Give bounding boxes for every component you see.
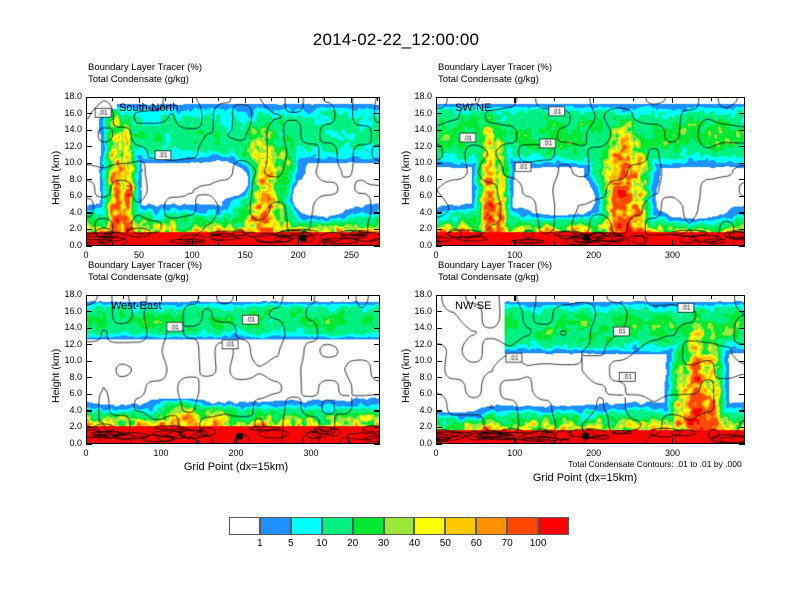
y-tickmark-right bbox=[374, 410, 380, 411]
y-tickmark bbox=[86, 113, 92, 114]
y-tickmark-right bbox=[374, 427, 380, 428]
y-tick-label: 18.0 bbox=[400, 91, 432, 101]
x-minor-tick-top bbox=[86, 97, 87, 101]
y-tickmark bbox=[86, 196, 92, 197]
y-tickmark bbox=[436, 146, 442, 147]
y-tickmark bbox=[86, 394, 92, 395]
x-minor-tick-top bbox=[351, 97, 352, 101]
y-tickmark-right bbox=[374, 113, 380, 114]
x-tick-label: 100 bbox=[141, 448, 181, 458]
y-tickmark bbox=[436, 311, 442, 312]
x-minor-tick-top bbox=[245, 97, 246, 101]
y-tickmark bbox=[436, 394, 442, 395]
y-tickmark bbox=[86, 163, 92, 164]
x-minor-tick-top bbox=[311, 295, 312, 299]
x-minor-tick bbox=[198, 440, 199, 444]
x-minor-tick bbox=[436, 440, 437, 444]
y-tick-label: 4.0 bbox=[400, 405, 432, 415]
x-minor-tick-top bbox=[165, 97, 166, 101]
x-tick-label: 0 bbox=[66, 250, 106, 260]
y-tickmark-right bbox=[374, 212, 380, 213]
x-minor-tick bbox=[351, 242, 352, 246]
y-tick-label: 16.0 bbox=[400, 108, 432, 118]
y-tickmark-right bbox=[374, 377, 380, 378]
y-tick-label: 16.0 bbox=[50, 306, 82, 316]
y-tickmark bbox=[436, 196, 442, 197]
x-minor-tick-top bbox=[475, 295, 476, 299]
y-tickmark bbox=[86, 344, 92, 345]
y-tickmark bbox=[436, 97, 442, 98]
x-minor-tick bbox=[554, 242, 555, 246]
y-tickmark bbox=[436, 212, 442, 213]
y-tickmark bbox=[436, 130, 442, 131]
y-tickmark bbox=[86, 377, 92, 378]
panel-tag-south-north: South-North bbox=[119, 102, 178, 114]
y-tick-label: 16.0 bbox=[50, 108, 82, 118]
y-tick-label: 14.0 bbox=[400, 124, 432, 134]
y-tick-label: 4.0 bbox=[400, 207, 432, 217]
y-tickmark bbox=[436, 328, 442, 329]
x-tick-label: 100 bbox=[172, 250, 212, 260]
x-minor-tick-top bbox=[112, 97, 113, 101]
x-tick-label: 0 bbox=[66, 448, 106, 458]
x-tick-label: 150 bbox=[225, 250, 265, 260]
x-minor-tick bbox=[593, 440, 594, 444]
y-tickmark bbox=[436, 361, 442, 362]
x-minor-tick-top bbox=[554, 97, 555, 101]
y-tick-label: 12.0 bbox=[400, 141, 432, 151]
y-tickmark-right bbox=[739, 377, 745, 378]
x-minor-tick-top bbox=[514, 295, 515, 299]
x-minor-tick bbox=[514, 440, 515, 444]
x-minor-tick-top bbox=[436, 97, 437, 101]
y-tickmark-right bbox=[739, 295, 745, 296]
x-tick-label: 200 bbox=[216, 448, 256, 458]
x-minor-tick bbox=[161, 440, 162, 444]
x-minor-tick-top bbox=[633, 97, 634, 101]
panel-tag-west-east: West-East bbox=[111, 300, 162, 312]
x-minor-tick bbox=[245, 242, 246, 246]
y-tickmark-right bbox=[739, 344, 745, 345]
y-tickmark-right bbox=[739, 410, 745, 411]
x-minor-tick bbox=[514, 242, 515, 246]
y-tickmark bbox=[86, 295, 92, 296]
y-tickmark-right bbox=[739, 246, 745, 247]
y-tick-label: 18.0 bbox=[400, 289, 432, 299]
y-tickmark-right bbox=[739, 97, 745, 98]
x-minor-tick-top bbox=[672, 97, 673, 101]
x-minor-tick-top bbox=[271, 97, 272, 101]
x-minor-tick-top bbox=[633, 295, 634, 299]
y-tick-label: 2.0 bbox=[400, 421, 432, 431]
y-tickmark-right bbox=[374, 130, 380, 131]
y-tickmark-right bbox=[739, 394, 745, 395]
x-minor-tick bbox=[377, 242, 378, 246]
y-tick-label: 2.0 bbox=[50, 421, 82, 431]
y-tickmark-right bbox=[374, 179, 380, 180]
x-minor-tick-top bbox=[672, 295, 673, 299]
x-tick-label: 100 bbox=[495, 448, 535, 458]
x-minor-tick bbox=[165, 242, 166, 246]
x-minor-tick bbox=[711, 440, 712, 444]
y-tickmark-right bbox=[739, 212, 745, 213]
y-tickmark-right bbox=[739, 163, 745, 164]
y-tickmark bbox=[436, 113, 442, 114]
x-minor-tick-top bbox=[711, 295, 712, 299]
x-tick-label: 200 bbox=[278, 250, 318, 260]
y-tickmark-right bbox=[739, 179, 745, 180]
x-tick-label: 250 bbox=[331, 250, 371, 260]
x-minor-tick bbox=[86, 440, 87, 444]
y-tick-label: 6.0 bbox=[400, 190, 432, 200]
x-minor-tick bbox=[298, 242, 299, 246]
y-tick-label: 14.0 bbox=[400, 322, 432, 332]
x-minor-tick-top bbox=[192, 97, 193, 101]
y-tickmark-right bbox=[739, 311, 745, 312]
x-minor-tick-top bbox=[554, 295, 555, 299]
x-tick-label: 200 bbox=[574, 448, 614, 458]
x-minor-tick bbox=[324, 242, 325, 246]
x-minor-tick bbox=[633, 242, 634, 246]
y-tickmark-right bbox=[374, 344, 380, 345]
x-minor-tick bbox=[273, 440, 274, 444]
x-minor-tick-top bbox=[161, 295, 162, 299]
x-minor-tick bbox=[593, 242, 594, 246]
x-minor-tick-top bbox=[348, 295, 349, 299]
y-tickmark-right bbox=[374, 361, 380, 362]
y-tickmark-right bbox=[374, 444, 380, 445]
x-minor-tick-top bbox=[139, 97, 140, 101]
y-tickmark-right bbox=[374, 146, 380, 147]
x-minor-tick bbox=[633, 440, 634, 444]
x-minor-tick bbox=[672, 440, 673, 444]
x-tick-label: 300 bbox=[291, 448, 331, 458]
y-tick-label: 14.0 bbox=[50, 124, 82, 134]
x-minor-tick-top bbox=[86, 295, 87, 299]
x-minor-tick bbox=[123, 440, 124, 444]
x-minor-tick bbox=[554, 440, 555, 444]
x-minor-tick bbox=[192, 242, 193, 246]
x-minor-tick-top bbox=[436, 295, 437, 299]
y-tickmark bbox=[436, 410, 442, 411]
y-tick-label: 8.0 bbox=[50, 174, 82, 184]
y-tickmark-right bbox=[739, 113, 745, 114]
y-tick-label: 4.0 bbox=[50, 207, 82, 217]
panel-tag-nw-se: NW-SE bbox=[455, 300, 491, 312]
x-minor-tick-top bbox=[198, 295, 199, 299]
y-tickmark-right bbox=[739, 229, 745, 230]
y-tickmark bbox=[86, 179, 92, 180]
x-minor-tick-top bbox=[324, 97, 325, 101]
y-tickmark-right bbox=[739, 361, 745, 362]
x-minor-tick bbox=[86, 242, 87, 246]
y-tickmark bbox=[86, 229, 92, 230]
y-tick-label: 12.0 bbox=[50, 141, 82, 151]
y-tickmark-right bbox=[739, 196, 745, 197]
x-tick-label: 50 bbox=[119, 250, 159, 260]
figure-root: 2014-02-22_12:00:00 Boundary Layer Trace… bbox=[0, 0, 792, 612]
y-tickmark bbox=[436, 163, 442, 164]
x-minor-tick bbox=[139, 242, 140, 246]
y-tickmark-right bbox=[739, 444, 745, 445]
y-tickmark bbox=[436, 444, 442, 445]
y-tick-label: 10.0 bbox=[50, 157, 82, 167]
x-minor-tick bbox=[475, 440, 476, 444]
y-tickmark-right bbox=[739, 328, 745, 329]
y-tick-label: 4.0 bbox=[50, 405, 82, 415]
y-tickmark bbox=[86, 410, 92, 411]
x-tick-label: 0 bbox=[416, 250, 456, 260]
y-tickmark-right bbox=[374, 394, 380, 395]
y-tick-label: 2.0 bbox=[50, 223, 82, 233]
y-tickmark bbox=[86, 427, 92, 428]
x-minor-tick bbox=[218, 242, 219, 246]
y-tickmark bbox=[436, 229, 442, 230]
x-minor-tick-top bbox=[298, 97, 299, 101]
x-minor-tick-top bbox=[236, 295, 237, 299]
y-tick-label: 6.0 bbox=[50, 388, 82, 398]
y-tick-label: 14.0 bbox=[50, 322, 82, 332]
y-tickmark-right bbox=[739, 146, 745, 147]
x-minor-tick-top bbox=[123, 295, 124, 299]
y-tickmark bbox=[86, 328, 92, 329]
x-minor-tick bbox=[711, 242, 712, 246]
y-tick-label: 18.0 bbox=[50, 289, 82, 299]
y-tick-label: 16.0 bbox=[400, 306, 432, 316]
y-tick-label: 6.0 bbox=[400, 388, 432, 398]
y-tickmark-right bbox=[374, 295, 380, 296]
x-minor-tick bbox=[311, 440, 312, 444]
x-minor-tick-top bbox=[218, 97, 219, 101]
x-minor-tick bbox=[236, 440, 237, 444]
y-tick-label: 12.0 bbox=[50, 339, 82, 349]
y-tick-label: 8.0 bbox=[400, 372, 432, 382]
x-minor-tick-top bbox=[711, 97, 712, 101]
y-tickmark bbox=[86, 246, 92, 247]
y-tick-label: 6.0 bbox=[50, 190, 82, 200]
y-tickmark bbox=[436, 344, 442, 345]
x-tick-label: 300 bbox=[652, 250, 692, 260]
y-tickmark-right bbox=[739, 130, 745, 131]
x-minor-tick bbox=[348, 440, 349, 444]
x-minor-tick-top bbox=[377, 97, 378, 101]
y-tickmark-right bbox=[374, 196, 380, 197]
x-minor-tick-top bbox=[593, 295, 594, 299]
y-tickmark bbox=[86, 146, 92, 147]
y-tickmark bbox=[86, 130, 92, 131]
y-tick-label: 12.0 bbox=[400, 339, 432, 349]
y-tickmark bbox=[436, 179, 442, 180]
y-tickmark-right bbox=[739, 427, 745, 428]
y-tickmark bbox=[86, 97, 92, 98]
y-tickmark bbox=[436, 295, 442, 296]
y-tick-label: 0.0 bbox=[400, 438, 432, 448]
y-tickmark-right bbox=[374, 163, 380, 164]
x-tick-label: 200 bbox=[574, 250, 614, 260]
y-tick-label: 0.0 bbox=[50, 240, 82, 250]
y-tick-label: 10.0 bbox=[400, 157, 432, 167]
x-tick-label: 0 bbox=[416, 448, 456, 458]
y-tickmark-right bbox=[374, 311, 380, 312]
y-tickmark bbox=[86, 311, 92, 312]
y-tickmark bbox=[86, 212, 92, 213]
x-minor-tick bbox=[436, 242, 437, 246]
y-tick-label: 8.0 bbox=[400, 174, 432, 184]
y-tickmark bbox=[436, 427, 442, 428]
x-minor-tick-top bbox=[273, 295, 274, 299]
y-tick-label: 2.0 bbox=[400, 223, 432, 233]
y-tick-label: 10.0 bbox=[50, 355, 82, 365]
y-tick-label: 0.0 bbox=[50, 438, 82, 448]
x-tick-label: 300 bbox=[652, 448, 692, 458]
y-tickmark bbox=[436, 246, 442, 247]
x-minor-tick bbox=[112, 242, 113, 246]
x-minor-tick bbox=[672, 242, 673, 246]
y-tick-label: 18.0 bbox=[50, 91, 82, 101]
x-minor-tick-top bbox=[475, 97, 476, 101]
x-minor-tick bbox=[475, 242, 476, 246]
y-tickmark bbox=[436, 377, 442, 378]
y-tick-label: 0.0 bbox=[400, 240, 432, 250]
y-tick-label: 8.0 bbox=[50, 372, 82, 382]
y-tickmark-right bbox=[374, 328, 380, 329]
x-minor-tick-top bbox=[593, 97, 594, 101]
panel-tag-sw-ne: SW-NE bbox=[455, 102, 491, 114]
y-tickmark bbox=[86, 444, 92, 445]
x-minor-tick bbox=[271, 242, 272, 246]
y-tickmark-right bbox=[374, 229, 380, 230]
x-tick-label: 100 bbox=[495, 250, 535, 260]
y-tickmark bbox=[86, 361, 92, 362]
x-minor-tick-top bbox=[514, 97, 515, 101]
y-tick-label: 10.0 bbox=[400, 355, 432, 365]
